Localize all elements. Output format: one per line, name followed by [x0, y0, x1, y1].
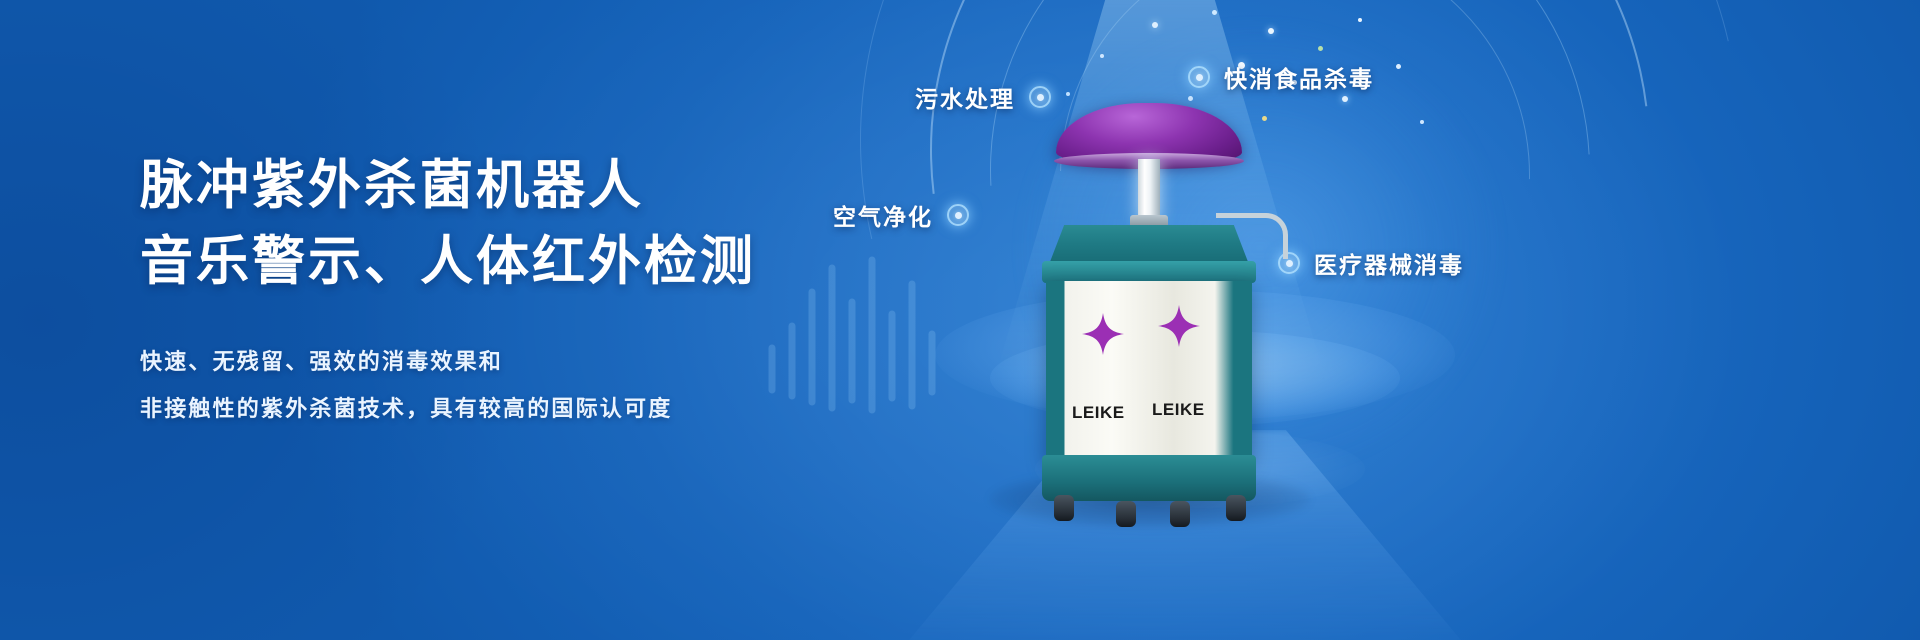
robot-body-shoulder	[1042, 261, 1256, 283]
caster-wheel-icon	[1170, 501, 1190, 527]
robot-body-panel	[1046, 281, 1252, 461]
page-title-line1: 脉冲紫外杀菌机器人	[140, 150, 860, 222]
caster-wheel-icon	[1116, 501, 1136, 527]
hero-text-block: 脉冲紫外杀菌机器人 音乐警示、人体红外检测 快速、无残留、强效的消毒效果和 非接…	[140, 150, 860, 432]
caster-wheel-icon	[1054, 495, 1074, 521]
subtitle-line1: 快速、无残留、强效的消毒效果和	[140, 338, 860, 385]
subtitle-line2: 非接触性的紫外杀菌技术，具有较高的国际认可度	[140, 385, 860, 432]
glow-ring-icon	[947, 204, 969, 226]
brand-label-left: LEIKE	[1072, 403, 1125, 423]
callout-label: 空气净化	[833, 198, 933, 232]
glow-ring-icon	[1188, 66, 1210, 88]
callout-food-sterilize[interactable]: 快消食品杀毒	[1188, 60, 1374, 94]
callout-label: 医疗器械消毒	[1314, 246, 1464, 280]
callout-air-purify[interactable]: 空气净化	[833, 198, 969, 232]
callout-label: 快消食品杀毒	[1224, 60, 1374, 94]
page-title-line2: 音乐警示、人体红外检测	[140, 226, 860, 298]
product-image-uv-robot: LEIKE LEIKE	[1020, 95, 1280, 495]
hero-subtitle: 快速、无残留、强效的消毒效果和 非接触性的紫外杀菌技术，具有较高的国际认可度	[140, 338, 860, 432]
purple-sparkle-icon	[1082, 313, 1124, 355]
uv-lamp-tube	[1138, 159, 1160, 221]
caster-wheel-icon	[1226, 495, 1246, 521]
purple-sparkle-icon	[1158, 305, 1200, 347]
callout-label: 污水处理	[915, 80, 1015, 114]
robot-body-base	[1042, 455, 1256, 501]
promo-banner: 脉冲紫外杀菌机器人 音乐警示、人体红外检测 快速、无残留、强效的消毒效果和 非接…	[0, 0, 1920, 640]
brand-label-right: LEIKE	[1152, 400, 1205, 420]
callout-medical-device[interactable]: 医疗器械消毒	[1278, 246, 1464, 280]
